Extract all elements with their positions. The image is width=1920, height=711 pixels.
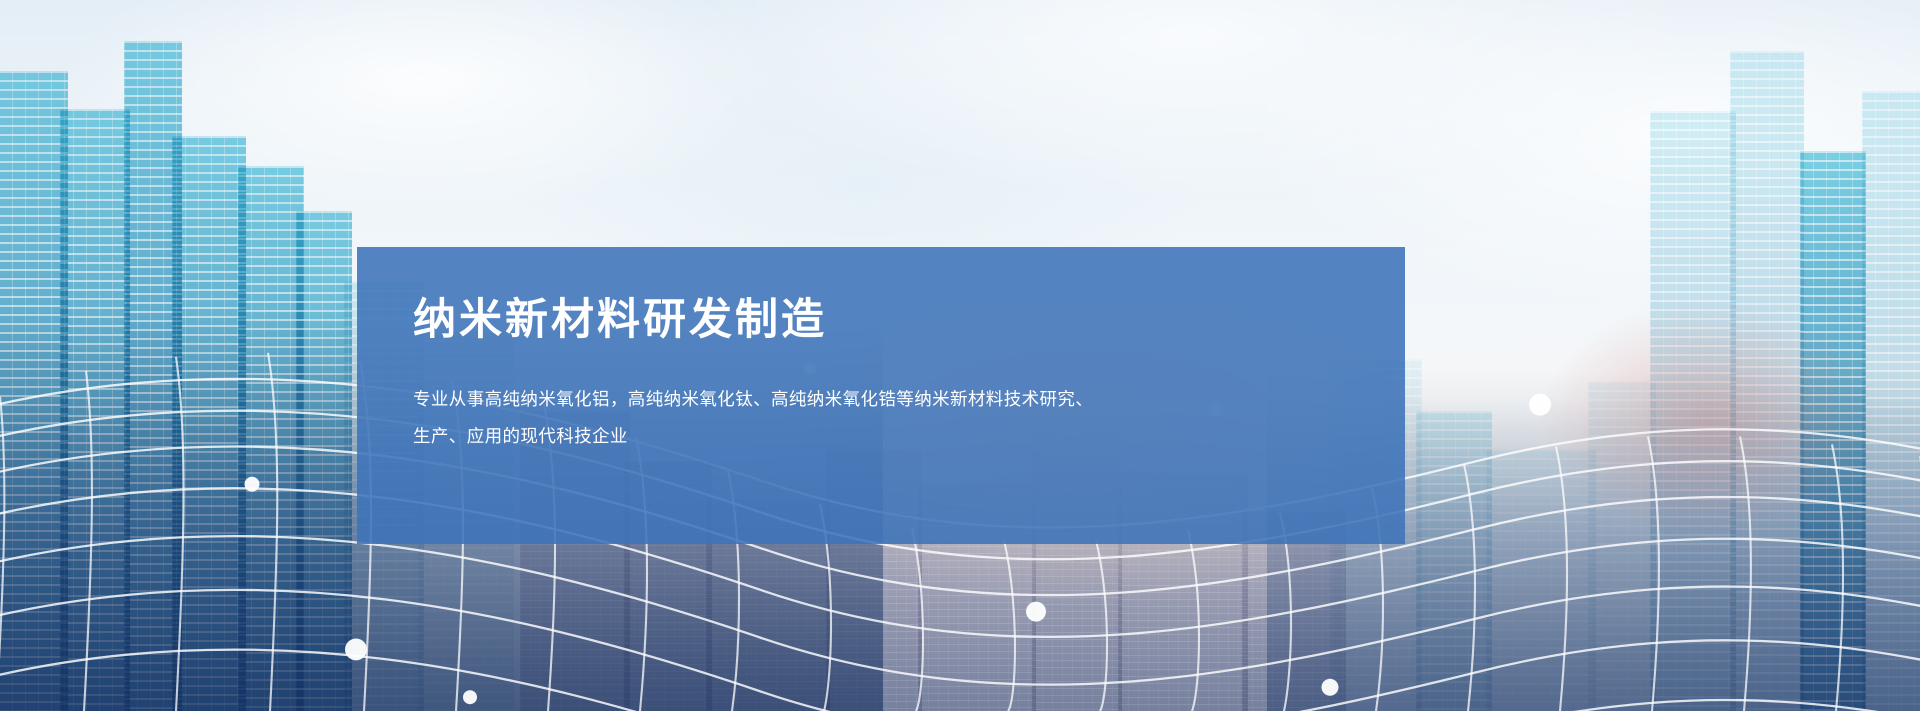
hero-description: 专业从事高纯纳米氧化铝，高纯纳米氧化钛、高纯纳米氧化锆等纳米新材料技术研究、 生… [413,381,1405,455]
hero-banner: 纳米新材料研发制造 专业从事高纯纳米氧化铝，高纯纳米氧化钛、高纯纳米氧化锆等纳米… [0,0,1920,711]
page-title: 纳米新材料研发制造 [413,297,1405,344]
hero-description-line-1: 专业从事高纯纳米氧化铝，高纯纳米氧化钛、高纯纳米氧化锆等纳米新材料技术研究、 [413,381,1405,418]
hero-description-line-2: 生产、应用的现代科技企业 [413,418,1405,455]
hero-text-panel: 纳米新材料研发制造 专业从事高纯纳米氧化铝，高纯纳米氧化钛、高纯纳米氧化锆等纳米… [357,247,1405,544]
